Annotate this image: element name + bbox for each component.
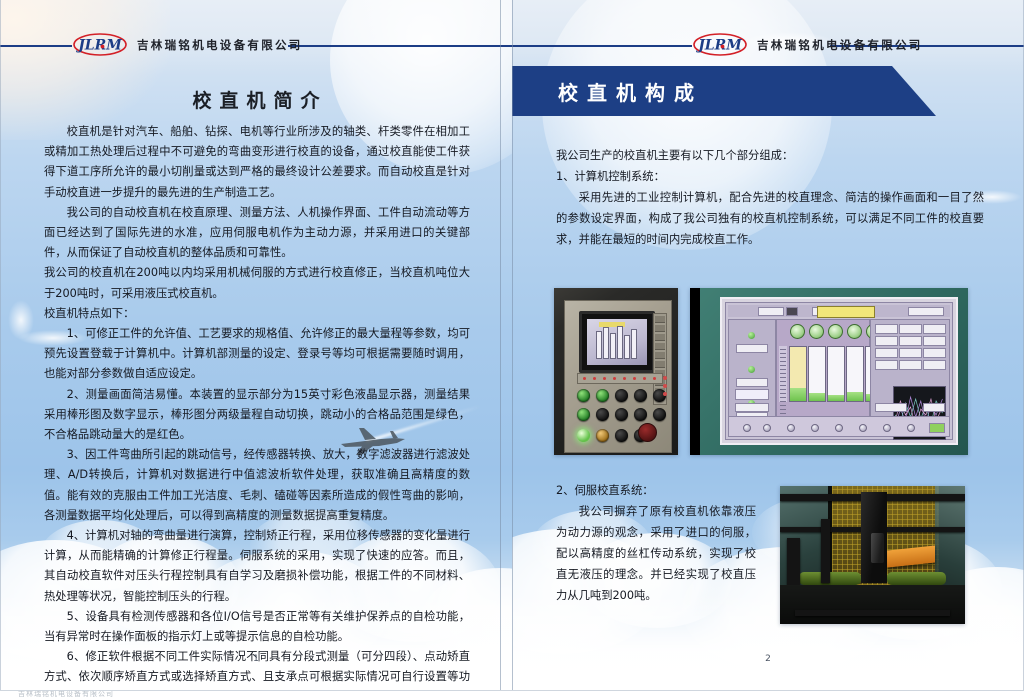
jlrm-logo-icon: JLRM <box>72 32 128 57</box>
paragraph: 1、计算机控制系统： <box>556 166 984 187</box>
jlrm-logo-icon: JLRM <box>692 32 748 57</box>
section-banner-title: 校直机构成 <box>558 77 703 106</box>
left-page: JLRM 吉林瑞铭机电设备有限公司 校直机简介 校直机是针对汽车、船舶、钻探、电… <box>0 0 512 690</box>
paragraph: 校直机特点如下： <box>44 304 470 324</box>
page-edge <box>0 0 1 690</box>
svg-text:JLRM: JLRM <box>695 38 742 54</box>
page-spine <box>512 0 513 690</box>
photo-operator-control-panel <box>554 288 678 455</box>
masthead-left: JLRM 吉林瑞铭机电设备有限公司 <box>0 32 512 60</box>
paragraph: 我公司摒弃了原有校直机依靠液压为动力源的观念，采用了进口的伺服，配以高精度的丝杠… <box>556 501 756 606</box>
paragraph: 5、设备具有检测传感器和各位I/O信号是否正常等有关维护保养点的自检功能，当有异… <box>44 607 470 647</box>
right-intro-copy: 我公司生产的校直机主要有以下几个部分组成： 1、计算机控制系统： 采用先进的工业… <box>556 145 984 250</box>
paragraph: 2、伺服校直系统： <box>556 480 756 501</box>
company-name: 吉林瑞铭机电设备有限公司 <box>137 37 303 53</box>
paragraph: 我公司生产的校直机主要有以下几个部分组成： <box>556 145 984 166</box>
paragraph: 4、计算机对轴的弯曲量进行演算，控制矫正行程，采用位移传感器的变化量进行计算，从… <box>44 526 470 607</box>
section-banner: 校直机构成 <box>512 66 936 116</box>
header-rule-left <box>0 45 72 47</box>
page-bottom-strip: 吉林瑞铭机电设备有限公司 <box>0 690 1024 699</box>
company-name: 吉林瑞铭机电设备有限公司 <box>757 37 923 53</box>
paragraph: 我公司的校直机在200吨以内均采用机械伺服的方式进行校直修正，当校直机吨位大于2… <box>44 263 470 303</box>
paragraph: 校直机是针对汽车、船舶、钻探、电机等行业所涉及的轴类、杆类零件在相加工或精加工热… <box>44 122 470 203</box>
paragraph: 采用先进的工业控制计算机，配合先进的校直理念、简洁的操作画面和一目了然的参数设定… <box>556 187 984 250</box>
page-number-right: 2 <box>512 654 1024 664</box>
page-title: 校直机简介 <box>0 86 512 113</box>
paragraph: 2、测量画面简洁易懂。本装置的显示部分为15英寸彩色液晶显示器，测量结果采用棒形… <box>44 385 470 446</box>
spread: JLRM 吉林瑞铭机电设备有限公司 校直机简介 校直机是针对汽车、船舶、钻探、电… <box>0 0 1024 690</box>
paragraph: 3、因工件弯曲所引起的跳动信号，经传感器转换、放大，数字滤波器进行滤波处理、A/… <box>44 445 470 526</box>
paragraph: 我公司的自动校直机在校直原理、测量方法、人机操作界面、工件自动流动等方面已经达到… <box>44 203 470 264</box>
right-servo-copy: 2、伺服校直系统： 我公司摒弃了原有校直机依靠液压为动力源的观念，采用了进口的伺… <box>556 480 756 606</box>
header-rule-left <box>512 45 692 47</box>
footer-ghost-text: 吉林瑞铭机电设备有限公司 <box>18 690 114 699</box>
masthead-right: JLRM 吉林瑞铭机电设备有限公司 <box>512 32 1024 60</box>
brand-lockup: JLRM 吉林瑞铭机电设备有限公司 <box>72 32 303 57</box>
svg-text:JLRM: JLRM <box>75 38 122 54</box>
page-spine <box>500 0 501 690</box>
page-number-left: 1 <box>0 654 512 664</box>
brochure-spread: JLRM 吉林瑞铭机电设备有限公司 校直机简介 校直机是针对汽车、船舶、钻探、电… <box>0 0 1024 699</box>
header-rule-right <box>288 45 512 47</box>
photo-straightening-machine-interior <box>780 486 965 624</box>
photo-hmi-measurement-screen <box>690 288 968 455</box>
left-body-copy: 校直机是针对汽车、船舶、钻探、电机等行业所涉及的轴类、杆类零件在相加工或精加工热… <box>44 122 470 690</box>
brand-lockup: JLRM 吉林瑞铭机电设备有限公司 <box>692 32 923 57</box>
paragraph: 1、可修正工件的允许值、工艺要求的规格值、允许修正的最大量程等参数，均可预先设置… <box>44 324 470 385</box>
